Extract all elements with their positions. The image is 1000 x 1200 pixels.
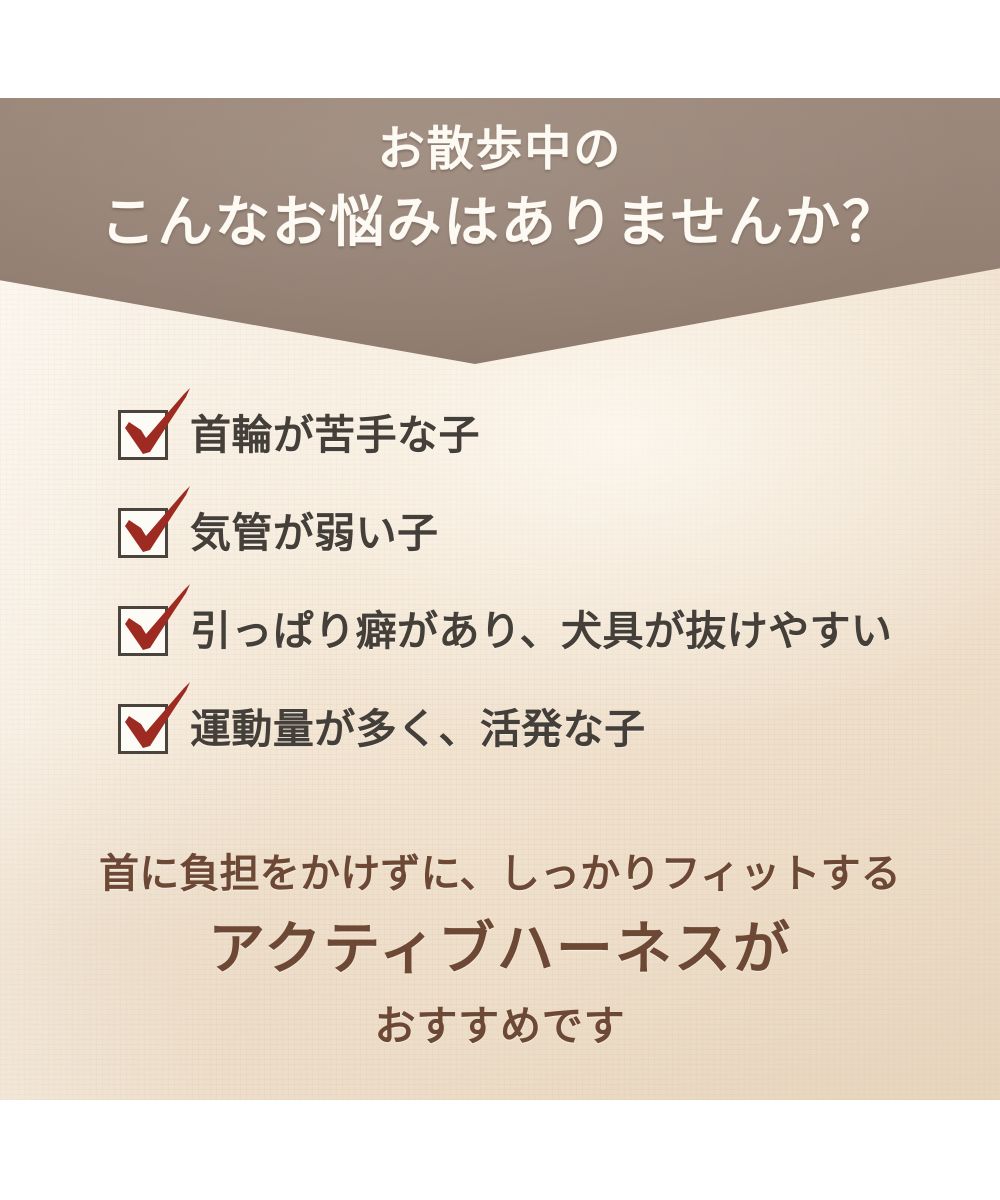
checkbox-box	[118, 704, 168, 754]
checkbox-box	[118, 606, 168, 656]
promo-page: お散歩中の こんなお悩みはありませんか？ 首輪が苦手な子 気管が弱い子	[0, 0, 1000, 1200]
closing-line-1: 首に負担をかけずに、しっかりフィットする	[0, 845, 1000, 903]
list-item-label: 引っぱり癖があり、犬具が抜けやすい	[190, 600, 892, 662]
closing-line-2-product: アクティブハーネスが	[0, 903, 1000, 995]
list-item: 運動量が多く、活発な子	[118, 698, 958, 796]
closing-line-3: おすすめです	[0, 995, 1000, 1057]
list-item: 気管が弱い子	[118, 502, 958, 600]
banner-headline-line1: お散歩中の	[0, 126, 1000, 173]
list-item-label: 運動量が多く、活発な子	[190, 698, 646, 760]
list-item-label: 首輪が苦手な子	[190, 404, 480, 466]
banner-headline-line2: こんなお悩みはありませんか？	[0, 195, 1000, 250]
problem-checklist: 首輪が苦手な子 気管が弱い子 引っぱり癖があり、犬具が抜けやすい	[118, 404, 958, 796]
list-item-label: 気管が弱い子	[190, 502, 438, 564]
closing-message: 首に負担をかけずに、しっかりフィットする アクティブハーネスが おすすめです	[0, 845, 1000, 1057]
list-item: 首輪が苦手な子	[118, 404, 958, 502]
checkbox-box	[118, 508, 168, 558]
checkbox-box	[118, 410, 168, 460]
list-item: 引っぱり癖があり、犬具が抜けやすい	[118, 600, 958, 698]
